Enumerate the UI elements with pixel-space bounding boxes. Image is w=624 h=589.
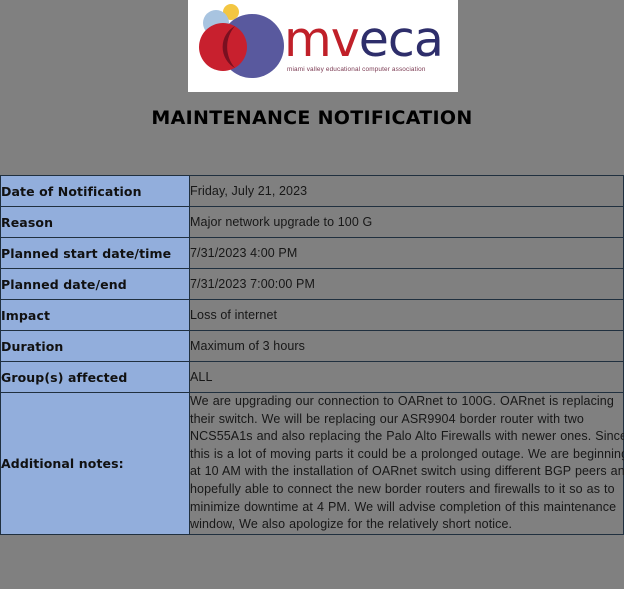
table-row: Planned date/end 7/31/2023 7:00:00 PM: [1, 269, 624, 300]
row-label-planned-start: Planned start date/time: [1, 238, 190, 269]
table-row: Planned start date/time 7/31/2023 4:00 P…: [1, 238, 624, 269]
row-label-date-of-notification: Date of Notification: [1, 176, 190, 207]
row-label-impact: Impact: [1, 300, 190, 331]
table-row-additional-notes: Additional notes: We are upgrading our c…: [1, 393, 624, 535]
mveca-logo-mark: [194, 2, 290, 86]
logo-wordmark-eca: eca: [359, 11, 443, 68]
row-value-duration: Maximum of 3 hours: [190, 331, 624, 362]
row-label-reason: Reason: [1, 207, 190, 238]
row-value-planned-start: 7/31/2023 4:00 PM: [190, 238, 624, 269]
table-row: Group(s) affected ALL: [1, 362, 624, 393]
table-row: Date of Notification Friday, July 21, 20…: [1, 176, 624, 207]
page-title: MAINTENANCE NOTIFICATION: [0, 107, 624, 129]
row-label-groups-affected: Group(s) affected: [1, 362, 190, 393]
logo-wordmark-mv: mv: [284, 11, 359, 68]
row-value-impact: Loss of internet: [190, 300, 624, 331]
row-label-planned-end: Planned date/end: [1, 269, 190, 300]
additional-notes-text: We are upgrading our connection to OARne…: [190, 393, 624, 534]
row-value-groups-affected: ALL: [190, 362, 624, 393]
logo-banner: mveca miami valley educational computer …: [188, 0, 458, 92]
row-value-reason: Major network upgrade to 100 G: [190, 207, 624, 238]
row-label-additional-notes: Additional notes:: [1, 393, 190, 535]
logo-tagline: miami valley educational computer associ…: [287, 66, 458, 73]
logo-wordmark: mveca: [284, 12, 458, 68]
row-value-date-of-notification: Friday, July 21, 2023: [190, 176, 624, 207]
maintenance-notification-table: Date of Notification Friday, July 21, 20…: [0, 175, 624, 535]
row-value-additional-notes: We are upgrading our connection to OARne…: [190, 393, 624, 535]
table-row: Impact Loss of internet: [1, 300, 624, 331]
table-row: Duration Maximum of 3 hours: [1, 331, 624, 362]
row-label-duration: Duration: [1, 331, 190, 362]
row-value-planned-end: 7/31/2023 7:00:00 PM: [190, 269, 624, 300]
table-row: Reason Major network upgrade to 100 G: [1, 207, 624, 238]
